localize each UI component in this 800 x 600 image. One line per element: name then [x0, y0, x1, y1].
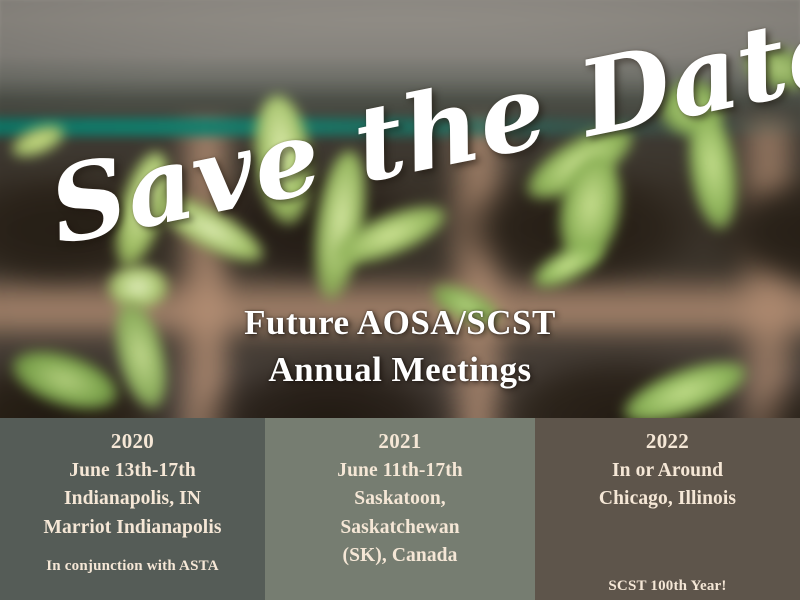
meeting-detail-line: (SK), Canada — [265, 542, 535, 570]
meeting-panel-2022: 2022 In or Around Chicago, Illinois SCST… — [535, 418, 800, 600]
meeting-year: 2020 — [0, 427, 265, 457]
meeting-year: 2022 — [535, 427, 800, 457]
meeting-detail-line: Marriot Indianapolis — [0, 514, 265, 542]
page-title-line-1: Future AOSA/SCST — [0, 300, 800, 347]
meeting-detail-line: In or Around — [535, 457, 800, 485]
meeting-panel-2021: 2021 June 11th-17th Saskatoon, Saskatche… — [265, 418, 535, 600]
meeting-detail-line: Indianapolis, IN — [0, 485, 265, 513]
meetings-panel-row: 2020 June 13th-17th Indianapolis, IN Mar… — [0, 418, 800, 600]
page-title: Future AOSA/SCST Annual Meetings — [0, 300, 800, 393]
meeting-panel-2020: 2020 June 13th-17th Indianapolis, IN Mar… — [0, 418, 265, 600]
meeting-note: In conjunction with ASTA — [0, 556, 265, 577]
meeting-year: 2021 — [265, 427, 535, 457]
meeting-note: SCST 100th Year! — [535, 576, 800, 597]
meeting-detail-line: Saskatoon, — [265, 485, 535, 513]
meeting-detail-line: June 13th-17th — [0, 457, 265, 485]
save-the-date-poster: Save the Date Future AOSA/SCST Annual Me… — [0, 0, 800, 600]
page-title-line-2: Annual Meetings — [0, 347, 800, 394]
meeting-detail-line: June 11th-17th — [265, 457, 535, 485]
meeting-detail-line: Chicago, Illinois — [535, 485, 800, 513]
meeting-detail-line: Saskatchewan — [265, 514, 535, 542]
